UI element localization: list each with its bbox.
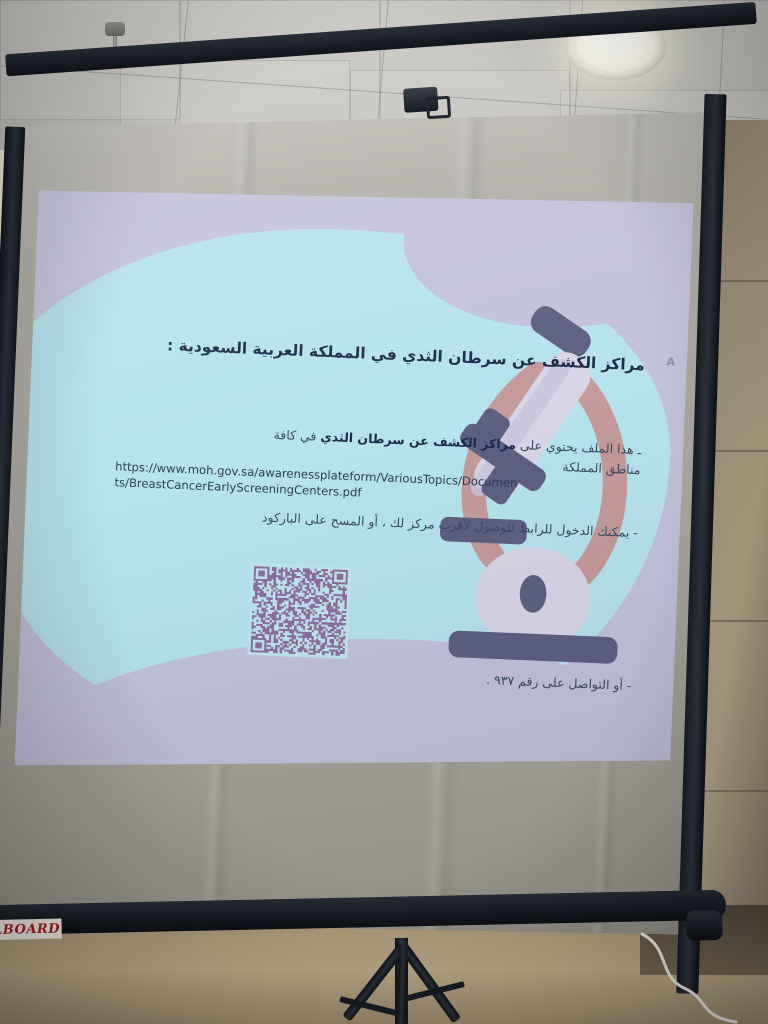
- slide-watermark-letter: A: [666, 356, 675, 369]
- brand-label: KALBOARD: [0, 919, 62, 941]
- projected-slide: A مراكز الكشف عن سرطان الثدي في المملكة …: [15, 176, 694, 793]
- projection-screen: A مراكز الكشف عن سرطان الثدي في المملكة …: [0, 55, 750, 965]
- microscope-base: [448, 631, 618, 665]
- paragraph-1-prefix: ـ هذا الملف يحتوي على: [516, 437, 642, 457]
- power-cable: [640, 930, 760, 1024]
- fire-sprinkler-icon: [105, 22, 125, 36]
- qr-code[interactable]: [247, 563, 351, 659]
- screen-mount-hook: [426, 96, 451, 119]
- room-photo-scene: A مراكز الكشف عن سرطان الثدي في المملكة …: [0, 0, 768, 1024]
- brand-label-text: KALBOARD: [0, 921, 60, 938]
